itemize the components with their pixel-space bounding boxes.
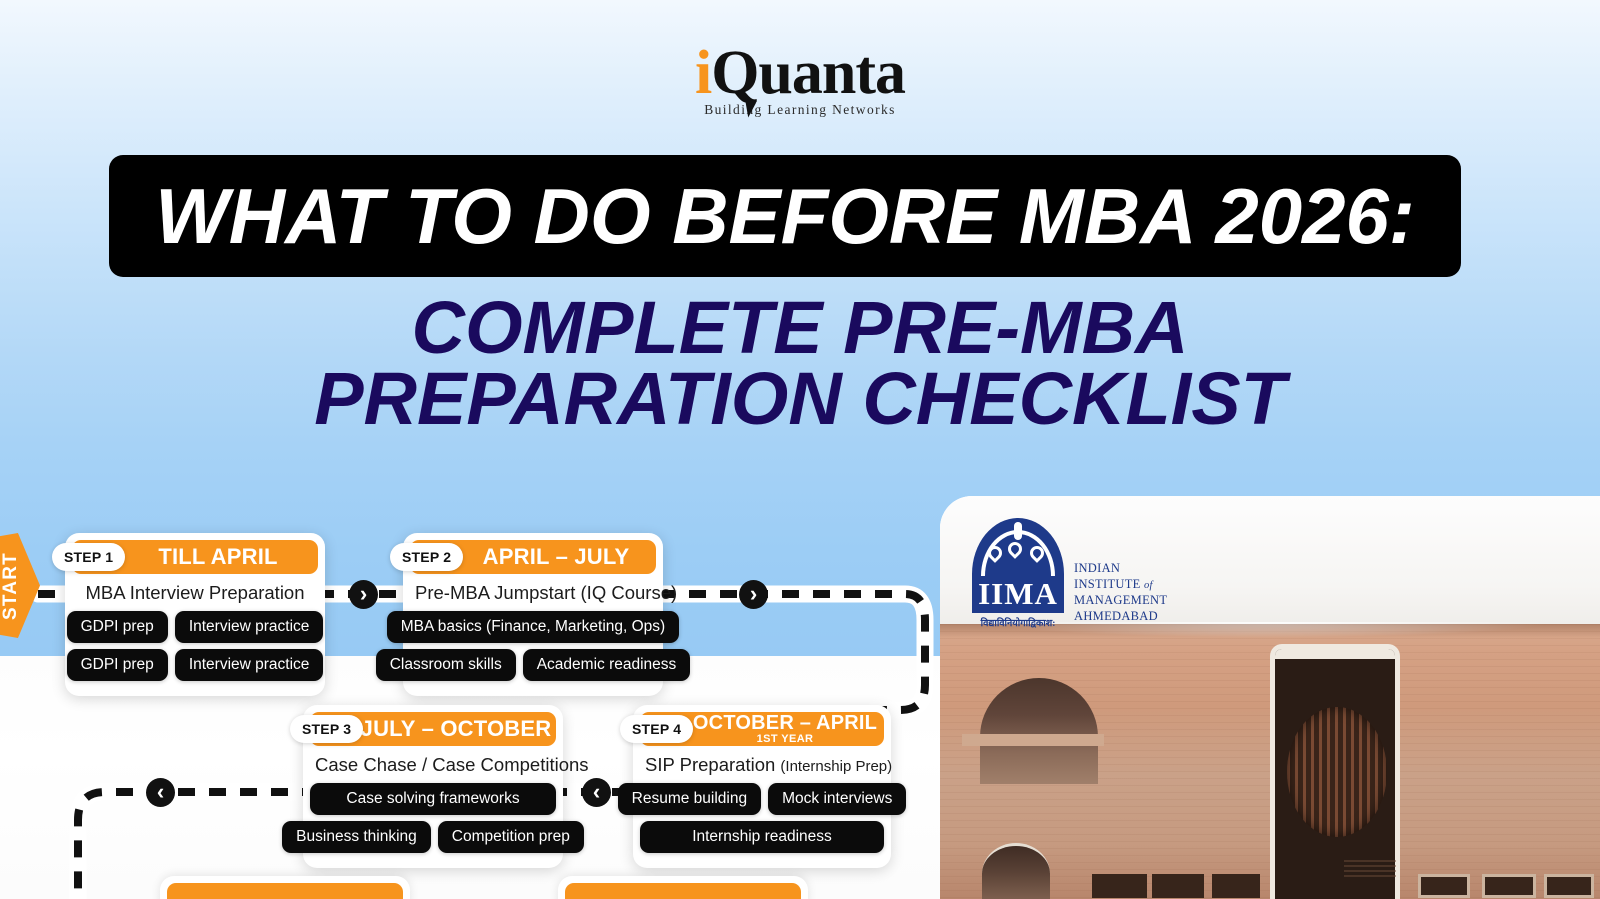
step-card-6-partial[interactable] (558, 876, 808, 899)
connector-arrow-right-2[interactable]: › (739, 580, 768, 609)
step-4-period: OCTOBER – APRIL (693, 713, 877, 734)
step-2-tag[interactable]: Classroom skills (376, 649, 516, 681)
step-4-tag[interactable]: Internship readiness (640, 821, 884, 853)
step-4-period-sub: 1ST YEAR (757, 734, 814, 745)
step-1-tag[interactable]: Interview practice (175, 611, 324, 643)
step-3-subtitle: Case Chase / Case Competitions (303, 746, 563, 783)
step-3-tag-row: Business thinking Competition prep (303, 821, 563, 859)
step-4-tag[interactable]: Mock interviews (768, 783, 906, 815)
photo-window (1544, 874, 1594, 898)
step-3-tag-row: Case solving frameworks (303, 783, 563, 821)
photo-portal-arch-top (1271, 644, 1400, 659)
iima-logo: IIMA विद्याविनियोगाद्विकाश: INDIAN INSTI… (972, 518, 1167, 629)
subheadline: COMPLETE PRE-MBA PREPARATION CHECKLIST (0, 292, 1600, 434)
step-1-subtitle: MBA Interview Preparation (65, 574, 325, 611)
step-2-tag[interactable]: Academic readiness (523, 649, 691, 681)
photo-portal-oval-grille (1287, 707, 1387, 837)
step-4-tag-row: Resume building Mock interviews (633, 783, 891, 821)
campus-photo-panel: IIMA विद्याविनियोगाद्विकाश: INDIAN INSTI… (940, 496, 1600, 899)
subheadline-line-2: PREPARATION CHECKLIST (0, 363, 1600, 434)
photo-wall-plaque (1344, 860, 1396, 888)
photo-window (1092, 874, 1147, 898)
brand-logo: iQuanta Building Learning Networks (0, 42, 1600, 118)
subheadline-line-1: COMPLETE PRE-MBA (0, 292, 1600, 363)
step-4-subtitle: SIP Preparation (Internship Prep) (633, 746, 891, 783)
step-2-subtitle: Pre-MBA Jumpstart (IQ Course) (403, 574, 663, 611)
iima-name-line-3: MANAGEMENT (1074, 592, 1167, 608)
photo-window (1418, 874, 1470, 898)
brand-logo-rest: Quanta (711, 39, 905, 107)
step-5-header-partial (167, 883, 403, 899)
step-3-tag[interactable]: Competition prep (438, 821, 584, 853)
photo-window (1152, 874, 1204, 898)
step-3-badge: STEP 3 (290, 715, 363, 743)
step-4-tag[interactable]: Resume building (618, 783, 761, 815)
connector-arrow-left-1[interactable]: ‹ (582, 778, 611, 807)
step-6-header-partial (565, 883, 801, 899)
step-1-tag[interactable]: GDPI prep (67, 649, 168, 681)
iima-name-line-2: INSTITUTE of (1074, 576, 1167, 592)
brand-logo-i: i (695, 39, 711, 107)
step-1-header: STEP 1 TILL APRIL (72, 540, 318, 574)
step-1-tag[interactable]: Interview practice (175, 649, 324, 681)
step-1-tag-row: GDPI prep Interview practice (65, 649, 325, 687)
connector-arrow-left-2[interactable]: ‹ (146, 778, 175, 807)
step-1-tag[interactable]: GDPI prep (67, 611, 168, 643)
brand-logo-wordmark: iQuanta (695, 42, 905, 104)
step-card-5-partial[interactable] (160, 876, 410, 899)
photo-window (1482, 874, 1536, 898)
connector-arrow-right-1[interactable]: › (349, 580, 378, 609)
start-label: START (0, 552, 22, 620)
step-card-3[interactable]: STEP 3 JULY – OCTOBER Case Chase / Case … (303, 705, 563, 868)
step-3-tag[interactable]: Case solving frameworks (310, 783, 556, 815)
iima-name-line-1: INDIAN (1074, 560, 1167, 576)
step-card-2[interactable]: STEP 2 APRIL – JULY Pre-MBA Jumpstart (I… (403, 533, 663, 696)
step-4-tag-row: Internship readiness (633, 821, 891, 859)
step-2-badge: STEP 2 (390, 543, 463, 571)
step-2-period: APRIL – JULY (483, 545, 630, 568)
step-4-header: STEP 4 OCTOBER – APRIL 1ST YEAR (640, 712, 884, 746)
step-card-1[interactable]: STEP 1 TILL APRIL MBA Interview Preparat… (65, 533, 325, 696)
step-2-header: STEP 2 APRIL – JULY (410, 540, 656, 574)
step-2-tag-row: MBA basics (Finance, Marketing, Ops) (403, 611, 663, 649)
iima-full-name: INDIAN INSTITUTE of MANAGEMENT AHMEDABAD (1074, 560, 1167, 624)
poster-canvas: iQuanta Building Learning Networks WHAT … (0, 0, 1600, 899)
photo-window (1212, 874, 1260, 898)
headline-text: WHAT TO DO BEFORE MBA 2026: (155, 177, 1415, 255)
step-3-header: STEP 3 JULY – OCTOBER (310, 712, 556, 746)
step-4-badge: STEP 4 (620, 715, 693, 743)
step-1-badge: STEP 1 (52, 543, 125, 571)
step-card-4[interactable]: STEP 4 OCTOBER – APRIL 1ST YEAR SIP Prep… (633, 705, 891, 868)
step-3-period: JULY – OCTOBER (361, 717, 552, 740)
iima-name-line-4: AHMEDABAD (1074, 608, 1167, 624)
step-2-tag[interactable]: MBA basics (Finance, Marketing, Ops) (387, 611, 679, 643)
step-1-period: TILL APRIL (158, 545, 277, 568)
headline-banner: WHAT TO DO BEFORE MBA 2026: (109, 155, 1461, 277)
step-1-tag-row: GDPI prep Interview practice (65, 611, 325, 649)
step-3-tag[interactable]: Business thinking (282, 821, 431, 853)
step-2-tag-row: Classroom skills Academic readiness (403, 649, 663, 687)
